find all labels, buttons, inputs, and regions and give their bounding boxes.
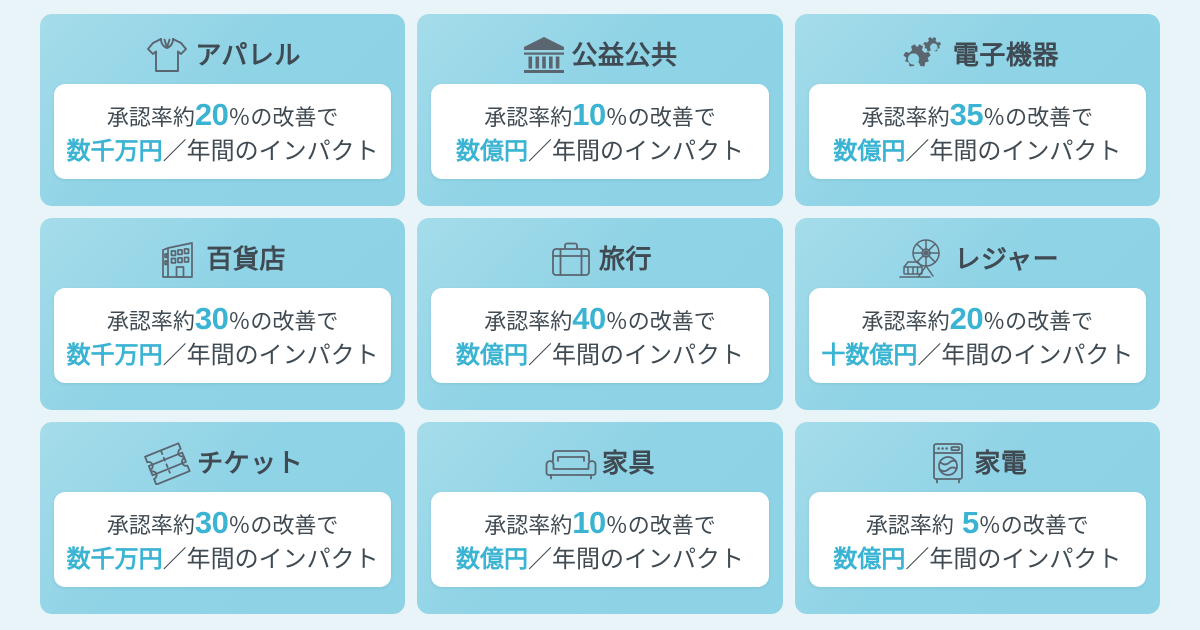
- card-header: 百貨店: [54, 230, 391, 288]
- slash-separator: ／: [905, 138, 929, 165]
- approval-rate-label: 承認率: [107, 513, 173, 538]
- card-header: チケット: [54, 434, 391, 492]
- card-header: レジャー: [809, 230, 1146, 288]
- industry-card-apparel: アパレル承認率約20％の改善で数千万円／年間のインパクト: [40, 14, 405, 206]
- percent-value: 35: [950, 97, 983, 132]
- percent-value: 20: [195, 97, 228, 132]
- impact-amount: 数億円: [456, 342, 528, 369]
- impact-amount-line: 数億円／年間のインパクト: [437, 544, 762, 576]
- improvement-suffix: の改善で: [250, 105, 338, 130]
- industry-card-ticket: チケット承認率約30％の改善で数千万円／年間のインパクト: [40, 422, 405, 614]
- category-title: 電子機器: [953, 42, 1059, 68]
- percent-sign: ％: [606, 513, 628, 538]
- impact-amount-line: 数億円／年間のインパクト: [815, 544, 1140, 576]
- percent-value: 30: [195, 505, 228, 540]
- impact-amount: 数億円: [456, 138, 528, 165]
- card-header: 家具: [431, 434, 768, 492]
- improvement-suffix: の改善で: [1005, 105, 1093, 130]
- approval-rate-line: 承認率約10％の改善で: [437, 94, 762, 136]
- improvement-suffix: の改善で: [628, 513, 716, 538]
- impact-statement: 承認率約 5％の改善で数億円／年間のインパクト: [809, 492, 1146, 587]
- approx-label: 約: [550, 513, 572, 538]
- category-title: アパレル: [195, 42, 300, 68]
- percent-sign: ％: [979, 513, 1001, 538]
- impact-amount-line: 数千万円／年間のインパクト: [60, 340, 385, 372]
- approx-label: 約: [932, 513, 954, 538]
- approval-rate-label: 承認率: [484, 513, 550, 538]
- industry-card-electronics: 電子機器承認率約35％の改善で数億円／年間のインパクト: [795, 14, 1160, 206]
- impact-amount-line: 数億円／年間のインパクト: [815, 136, 1140, 168]
- washing-machine-icon: [927, 440, 969, 486]
- approval-rate-label: 承認率: [107, 105, 173, 130]
- industry-card-public-utility: 公益公共承認率約10％の改善で数億円／年間のインパクト: [417, 14, 782, 206]
- slash-separator: ／: [163, 342, 187, 369]
- approval-rate-label: 承認率: [107, 309, 173, 334]
- slash-separator: ／: [528, 138, 552, 165]
- approx-label: 約: [173, 309, 195, 334]
- percent-value: 30: [195, 301, 228, 336]
- approx-label: 約: [550, 309, 572, 334]
- percent-sign: ％: [228, 309, 250, 334]
- impact-period-label: 年間のインパクト: [552, 138, 744, 165]
- improvement-suffix: の改善で: [250, 513, 338, 538]
- card-header: 公益公共: [431, 26, 768, 84]
- gears-icon: [896, 33, 948, 77]
- slash-separator: ／: [528, 342, 552, 369]
- card-header: アパレル: [54, 26, 391, 84]
- impact-amount-line: 数千万円／年間のインパクト: [60, 544, 385, 576]
- impact-statement: 承認率約40％の改善で数億円／年間のインパクト: [431, 288, 768, 383]
- impact-statement: 承認率約30％の改善で数千万円／年間のインパクト: [54, 492, 391, 587]
- category-title: 旅行: [599, 246, 652, 272]
- impact-amount: 数億円: [833, 138, 905, 165]
- approval-rate-line: 承認率約30％の改善で: [60, 502, 385, 544]
- improvement-suffix: の改善で: [250, 309, 338, 334]
- suitcase-icon: [548, 237, 594, 281]
- impact-amount-line: 数億円／年間のインパクト: [437, 340, 762, 372]
- approx-label: 約: [173, 513, 195, 538]
- percent-sign: ％: [606, 309, 628, 334]
- impact-statement: 承認率約10％の改善で数億円／年間のインパクト: [431, 84, 768, 179]
- approval-rate-line: 承認率約35％の改善で: [815, 94, 1140, 136]
- approval-rate-label: 承認率: [862, 309, 928, 334]
- approval-rate-label: 承認率: [484, 105, 550, 130]
- impact-period-label: 年間のインパクト: [552, 342, 744, 369]
- category-title: レジャー: [954, 246, 1059, 272]
- percent-sign: ％: [228, 513, 250, 538]
- percent-value: 10: [572, 505, 605, 540]
- industry-card-furniture: 家具承認率約10％の改善で数億円／年間のインパクト: [417, 422, 782, 614]
- approx-label: 約: [928, 309, 950, 334]
- approval-rate-label: 承認率: [484, 309, 550, 334]
- category-title: 百貨店: [206, 246, 286, 272]
- impact-period-label: 年間のインパクト: [187, 546, 379, 573]
- category-title: 家具: [602, 450, 655, 476]
- impact-amount: 数億円: [833, 546, 905, 573]
- impact-amount-line: 数千万円／年間のインパクト: [60, 136, 385, 168]
- category-title: 公益公共: [571, 42, 677, 68]
- slash-separator: ／: [905, 546, 929, 573]
- industry-card-home-appliance: 家電承認率約 5％の改善で数億円／年間のインパクト: [795, 422, 1160, 614]
- impact-amount: 十数億円: [821, 342, 917, 369]
- impact-statement: 承認率約35％の改善で数億円／年間のインパクト: [809, 84, 1146, 179]
- improvement-suffix: の改善で: [628, 309, 716, 334]
- percent-sign: ％: [983, 309, 1005, 334]
- card-header: 旅行: [431, 230, 768, 288]
- impact-amount: 数千万円: [67, 546, 163, 573]
- approval-rate-label: 承認率: [866, 513, 932, 538]
- impact-period-label: 年間のインパクト: [941, 342, 1133, 369]
- impact-period-label: 年間のインパクト: [929, 546, 1121, 573]
- department-store-icon: [159, 237, 201, 281]
- tshirt-icon: [144, 33, 190, 77]
- impact-statement: 承認率約30％の改善で数千万円／年間のインパクト: [54, 288, 391, 383]
- improvement-suffix: の改善で: [628, 105, 716, 130]
- impact-period-label: 年間のインパクト: [929, 138, 1121, 165]
- percent-value: 20: [950, 301, 983, 336]
- impact-period-label: 年間のインパクト: [187, 342, 379, 369]
- improvement-suffix: の改善で: [1001, 513, 1089, 538]
- percent-value: 5: [954, 505, 979, 540]
- industry-card-department-store: 百貨店承認率約30％の改善で数千万円／年間のインパクト: [40, 218, 405, 410]
- approx-label: 約: [550, 105, 572, 130]
- approx-label: 約: [173, 105, 195, 130]
- impact-amount-line: 数億円／年間のインパクト: [437, 136, 762, 168]
- approval-rate-line: 承認率約10％の改善で: [437, 502, 762, 544]
- sofa-icon: [545, 441, 597, 485]
- slash-separator: ／: [917, 342, 941, 369]
- card-header: 家電: [809, 434, 1146, 492]
- improvement-suffix: の改善で: [1005, 309, 1093, 334]
- industry-impact-grid: アパレル承認率約20％の改善で数千万円／年間のインパクト 公益公共承認率約10％…: [0, 0, 1200, 630]
- card-header: 電子機器: [809, 26, 1146, 84]
- impact-period-label: 年間のインパクト: [552, 546, 744, 573]
- impact-amount: 数千万円: [67, 138, 163, 165]
- approval-rate-line: 承認率約20％の改善で: [815, 298, 1140, 340]
- impact-period-label: 年間のインパクト: [187, 138, 379, 165]
- percent-sign: ％: [983, 105, 1005, 130]
- bank-icon: [522, 34, 566, 76]
- percent-value: 40: [572, 301, 605, 336]
- approx-label: 約: [928, 105, 950, 130]
- category-title: 家電: [974, 450, 1027, 476]
- slash-separator: ／: [163, 138, 187, 165]
- slash-separator: ／: [163, 546, 187, 573]
- industry-card-leisure: レジャー承認率約20％の改善で十数億円／年間のインパクト: [795, 218, 1160, 410]
- approval-rate-line: 承認率約30％の改善で: [60, 298, 385, 340]
- impact-amount: 数千万円: [67, 342, 163, 369]
- ferris-wheel-icon: [895, 237, 949, 281]
- impact-amount-line: 十数億円／年間のインパクト: [815, 340, 1140, 372]
- impact-statement: 承認率約10％の改善で数億円／年間のインパクト: [431, 492, 768, 587]
- approval-rate-line: 承認率約20％の改善で: [60, 94, 385, 136]
- impact-statement: 承認率約20％の改善で十数億円／年間のインパクト: [809, 288, 1146, 383]
- approval-rate-line: 承認率約 5％の改善で: [815, 502, 1140, 544]
- impact-statement: 承認率約20％の改善で数千万円／年間のインパクト: [54, 84, 391, 179]
- category-title: チケット: [197, 450, 303, 476]
- tickets-icon: [142, 441, 192, 485]
- approval-rate-label: 承認率: [862, 105, 928, 130]
- industry-card-travel: 旅行承認率約40％の改善で数億円／年間のインパクト: [417, 218, 782, 410]
- slash-separator: ／: [528, 546, 552, 573]
- percent-sign: ％: [606, 105, 628, 130]
- impact-amount: 数億円: [456, 546, 528, 573]
- percent-sign: ％: [228, 105, 250, 130]
- percent-value: 10: [572, 97, 605, 132]
- approval-rate-line: 承認率約40％の改善で: [437, 298, 762, 340]
